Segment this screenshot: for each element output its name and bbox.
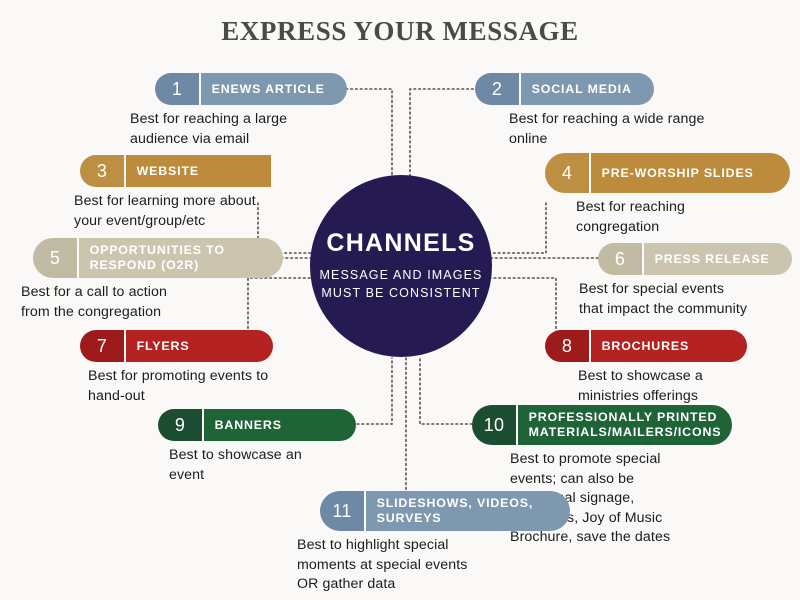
node-4-number: 4 bbox=[545, 153, 589, 193]
node-6[interactable]: 6 PRESS RELEASE Best for special events … bbox=[598, 243, 798, 319]
central-hub: CHANNELS MESSAGE AND IMAGES MUST BE CONS… bbox=[310, 175, 492, 357]
node-4-description: Best for reaching congregation bbox=[576, 198, 790, 237]
hub-subtitle: MESSAGE AND IMAGES MUST BE CONSISTENT bbox=[310, 266, 492, 302]
node-2[interactable]: 2 SOCIAL MEDIA Best for reaching a wide … bbox=[475, 73, 755, 149]
node-11-label: SLIDESHOWS, VIDEOS, SURVEYS bbox=[366, 491, 570, 531]
node-11-number: 11 bbox=[320, 491, 364, 531]
node-9[interactable]: 9 BANNERS Best to showcase an event bbox=[158, 409, 413, 485]
node-2-pill[interactable]: 2 SOCIAL MEDIA bbox=[475, 73, 654, 105]
node-5[interactable]: 5 OPPORTUNITIES TO RESPOND (O2R) Best fo… bbox=[33, 238, 283, 322]
node-7-number: 7 bbox=[80, 330, 124, 362]
node-7-pill[interactable]: 7 FLYERS bbox=[80, 330, 273, 362]
node-6-label: PRESS RELEASE bbox=[644, 243, 792, 275]
node-3-label: WEBSITE bbox=[126, 155, 271, 187]
node-9-label: BANNERS bbox=[204, 409, 356, 441]
node-1-description: Best for reaching a large audience via e… bbox=[130, 110, 385, 149]
node-10-number: 10 bbox=[472, 405, 516, 445]
node-7[interactable]: 7 FLYERS Best for promoting events to ha… bbox=[80, 330, 335, 406]
connector-2 bbox=[410, 89, 478, 182]
node-4[interactable]: 4 PRE-WORSHIP SLIDES Best for reaching c… bbox=[545, 153, 790, 237]
node-10-label: PROFESSIONALLY PRINTED MATERIALS/MAILERS… bbox=[518, 405, 733, 445]
node-1-pill[interactable]: 1 ENEWS ARTICLE bbox=[155, 73, 347, 105]
connector-10 bbox=[420, 358, 472, 424]
node-5-label: OPPORTUNITIES TO RESPOND (O2R) bbox=[79, 238, 283, 278]
node-8-pill[interactable]: 8 BROCHURES bbox=[545, 330, 747, 362]
node-1[interactable]: 1 ENEWS ARTICLE Best for reaching a larg… bbox=[155, 73, 385, 149]
node-3-description: Best for learning more about your event/… bbox=[74, 192, 330, 231]
node-6-number: 6 bbox=[598, 243, 642, 275]
node-1-number: 1 bbox=[155, 73, 199, 105]
node-8-number: 8 bbox=[545, 330, 589, 362]
node-3[interactable]: 3 WEBSITE Best for learning more about y… bbox=[80, 155, 330, 231]
hub-title: CHANNELS bbox=[326, 230, 475, 258]
node-8-label: BROCHURES bbox=[591, 330, 748, 362]
node-6-pill[interactable]: 6 PRESS RELEASE bbox=[598, 243, 792, 275]
node-11-pill[interactable]: 11 SLIDESHOWS, VIDEOS, SURVEYS bbox=[320, 491, 570, 531]
connector-8 bbox=[486, 278, 556, 333]
node-7-label: FLYERS bbox=[126, 330, 274, 362]
node-5-pill[interactable]: 5 OPPORTUNITIES TO RESPOND (O2R) bbox=[33, 238, 283, 278]
node-5-number: 5 bbox=[33, 238, 77, 278]
node-8[interactable]: 8 BROCHURES Best to showcase a ministrie… bbox=[545, 330, 795, 406]
node-2-label: SOCIAL MEDIA bbox=[521, 73, 654, 105]
infographic-canvas: EXPRESS YOUR MESSAGE CHANNELS MESSAGE AN… bbox=[0, 0, 800, 600]
node-4-pill[interactable]: 4 PRE-WORSHIP SLIDES bbox=[545, 153, 790, 193]
node-11-description: Best to highlight special moments at spe… bbox=[297, 536, 570, 595]
node-11[interactable]: 11 SLIDESHOWS, VIDEOS, SURVEYS Best to h… bbox=[320, 491, 570, 595]
node-7-description: Best for promoting events to hand-out bbox=[88, 367, 335, 406]
node-9-number: 9 bbox=[158, 409, 202, 441]
node-3-pill[interactable]: 3 WEBSITE bbox=[80, 155, 299, 187]
connector-4 bbox=[486, 203, 546, 253]
node-2-description: Best for reaching a wide range online bbox=[509, 110, 755, 149]
node-6-description: Best for special events that impact the … bbox=[579, 280, 798, 319]
node-1-label: ENEWS ARTICLE bbox=[201, 73, 347, 105]
node-4-label: PRE-WORSHIP SLIDES bbox=[591, 153, 790, 193]
node-9-description: Best to showcase an event bbox=[169, 446, 413, 485]
node-2-number: 2 bbox=[475, 73, 519, 105]
node-9-pill[interactable]: 9 BANNERS bbox=[158, 409, 356, 441]
node-3-number: 3 bbox=[80, 155, 124, 187]
node-8-description: Best to showcase a ministries offerings bbox=[578, 367, 795, 406]
node-10-pill[interactable]: 10 PROFESSIONALLY PRINTED MATERIALS/MAIL… bbox=[472, 405, 732, 445]
node-5-description: Best for a call to action from the congr… bbox=[21, 283, 283, 322]
